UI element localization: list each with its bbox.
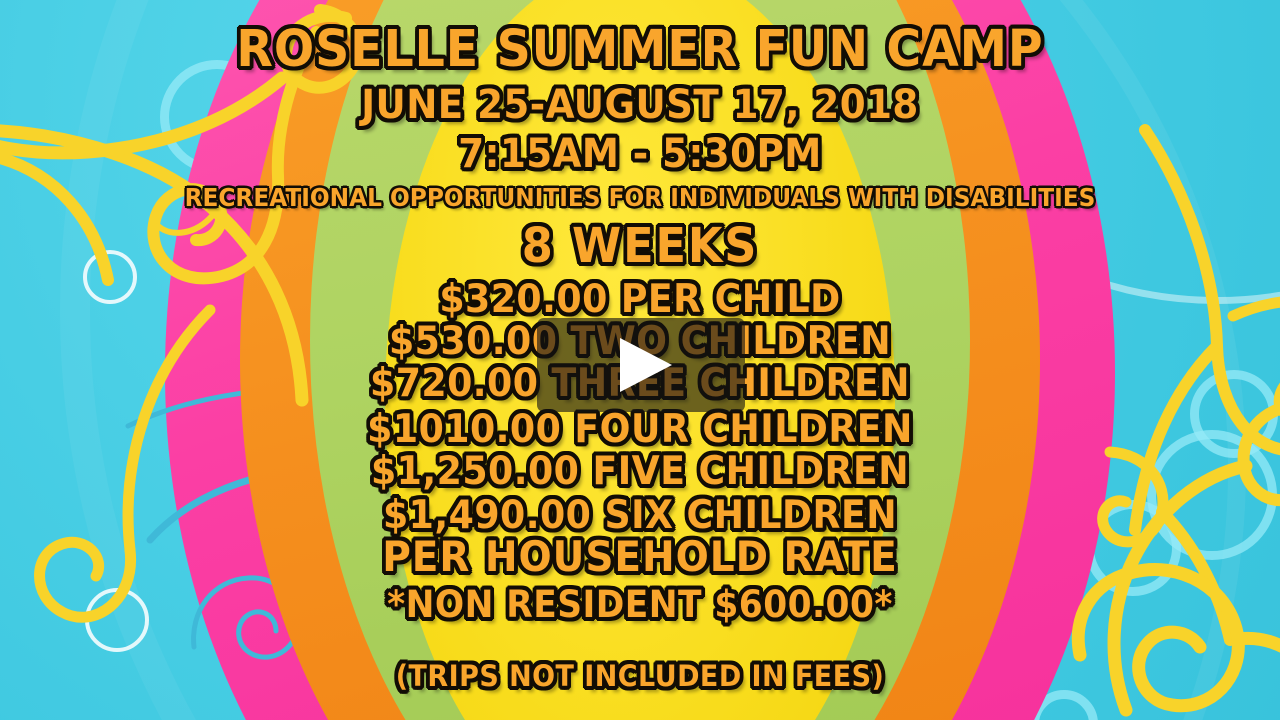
- price-line: $1,250.00 FIVE CHILDREN: [45, 452, 1235, 491]
- flyer-hours: 7:15AM - 5:30PM: [45, 134, 1235, 174]
- household-rate-label: PER HOUSEHOLD RATE: [45, 536, 1235, 578]
- price-line: $1,490.00 SIX CHILDREN: [45, 496, 1235, 535]
- price-line: $320.00 PER CHILD: [45, 280, 1235, 319]
- price-line: $1010.00 FOUR CHILDREN: [45, 410, 1235, 449]
- flyer-title: ROSELLE SUMMER FUN CAMP: [45, 24, 1235, 75]
- flyer-duration: 8 WEEKS: [45, 222, 1235, 270]
- flyer-tagline: RECREATIONAL OPPORTUNITIES FOR INDIVIDUA…: [45, 185, 1235, 210]
- non-resident-fee: *NON RESIDENT $600.00*: [45, 586, 1235, 623]
- play-button[interactable]: [537, 318, 745, 412]
- flyer-dates: JUNE 25-AUGUST 17, 2018: [45, 85, 1235, 125]
- trips-footnote: (TRIPS NOT INCLUDED IN FEES): [45, 662, 1235, 691]
- video-poster-frame: ROSELLE SUMMER FUN CAMP JUNE 25-AUGUST 1…: [0, 0, 1280, 720]
- play-icon: [620, 338, 672, 392]
